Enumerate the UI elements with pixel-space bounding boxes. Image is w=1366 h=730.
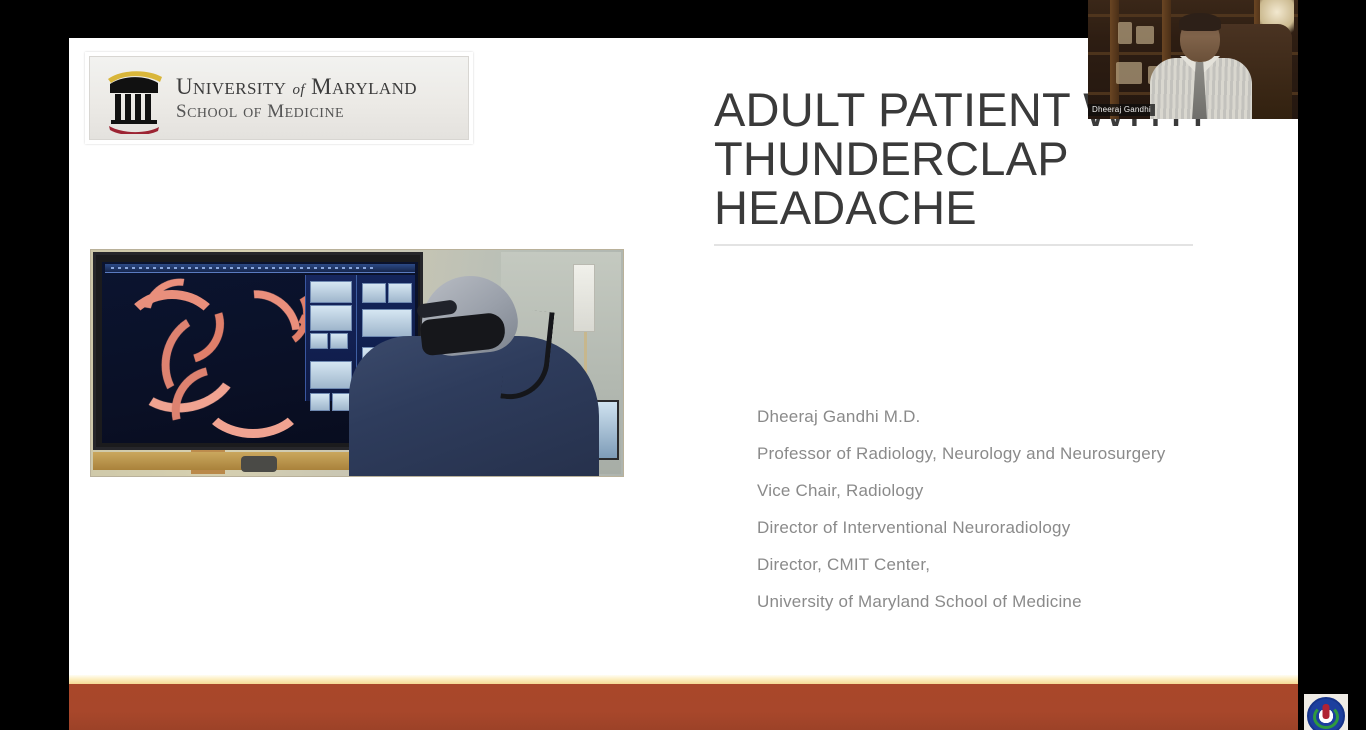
university-logo-wordmark: UNIVERSITY of MARYLAND SCHOOL OF MEDICIN…: [176, 75, 417, 121]
logo-line-school: SCHOOL OF MEDICINE: [176, 102, 417, 121]
video-player-viewport: UNIVERSITY of MARYLAND SCHOOL OF MEDICIN…: [0, 0, 1366, 730]
participant-name-label: Dheeraj Gandhi: [1088, 104, 1155, 116]
umsom-column-icon: [102, 62, 166, 134]
photo-screen-panel-middle: [305, 275, 356, 401]
institution-seal-watermark: [1304, 694, 1348, 730]
presenter-title-2: Vice Chair, Radiology: [757, 472, 1277, 509]
presenter-title-3: Director of Interventional Neuroradiolog…: [757, 509, 1277, 546]
photo-ledge-knob: [241, 456, 277, 472]
photo-screen-toolbar: [105, 264, 415, 273]
university-logo: UNIVERSITY of MARYLAND SCHOOL OF MEDICIN…: [85, 52, 473, 144]
presenter-credentials: Dheeraj Gandhi M.D. Professor of Radiolo…: [757, 398, 1277, 620]
presentation-slide: UNIVERSITY of MARYLAND SCHOOL OF MEDICIN…: [69, 38, 1298, 730]
webcam-shelf-object: [1116, 62, 1142, 84]
presenter-affiliation: University of Maryland School of Medicin…: [757, 583, 1277, 620]
presenter-video-thumbnail[interactable]: Dheeraj Gandhi: [1088, 0, 1298, 119]
presenter-title-1: Professor of Radiology, Neurology and Ne…: [757, 435, 1277, 472]
seal-center-figure: [1323, 704, 1330, 719]
slide-footer-bar: [69, 684, 1298, 730]
webcam-presenter-hair: [1179, 13, 1221, 31]
logo-line-university: UNIVERSITY of MARYLAND: [176, 75, 417, 98]
webcam-shelf-object: [1118, 22, 1132, 44]
photo-iv-bag: [573, 264, 595, 332]
university-logo-plate: UNIVERSITY of MARYLAND SCHOOL OF MEDICIN…: [89, 56, 469, 140]
title-divider: [714, 244, 1193, 246]
webcam-bookshelf-post: [1110, 0, 1119, 119]
webcam-shelf-object: [1136, 26, 1154, 44]
photo-clinician-gown: [349, 336, 599, 477]
presenter-title-4: Director, CMIT Center,: [757, 546, 1277, 583]
slide-accent-bar-gold: [69, 675, 1298, 684]
angiography-suite-photo: [90, 249, 624, 477]
presenter-name: Dheeraj Gandhi M.D.: [757, 398, 1277, 435]
